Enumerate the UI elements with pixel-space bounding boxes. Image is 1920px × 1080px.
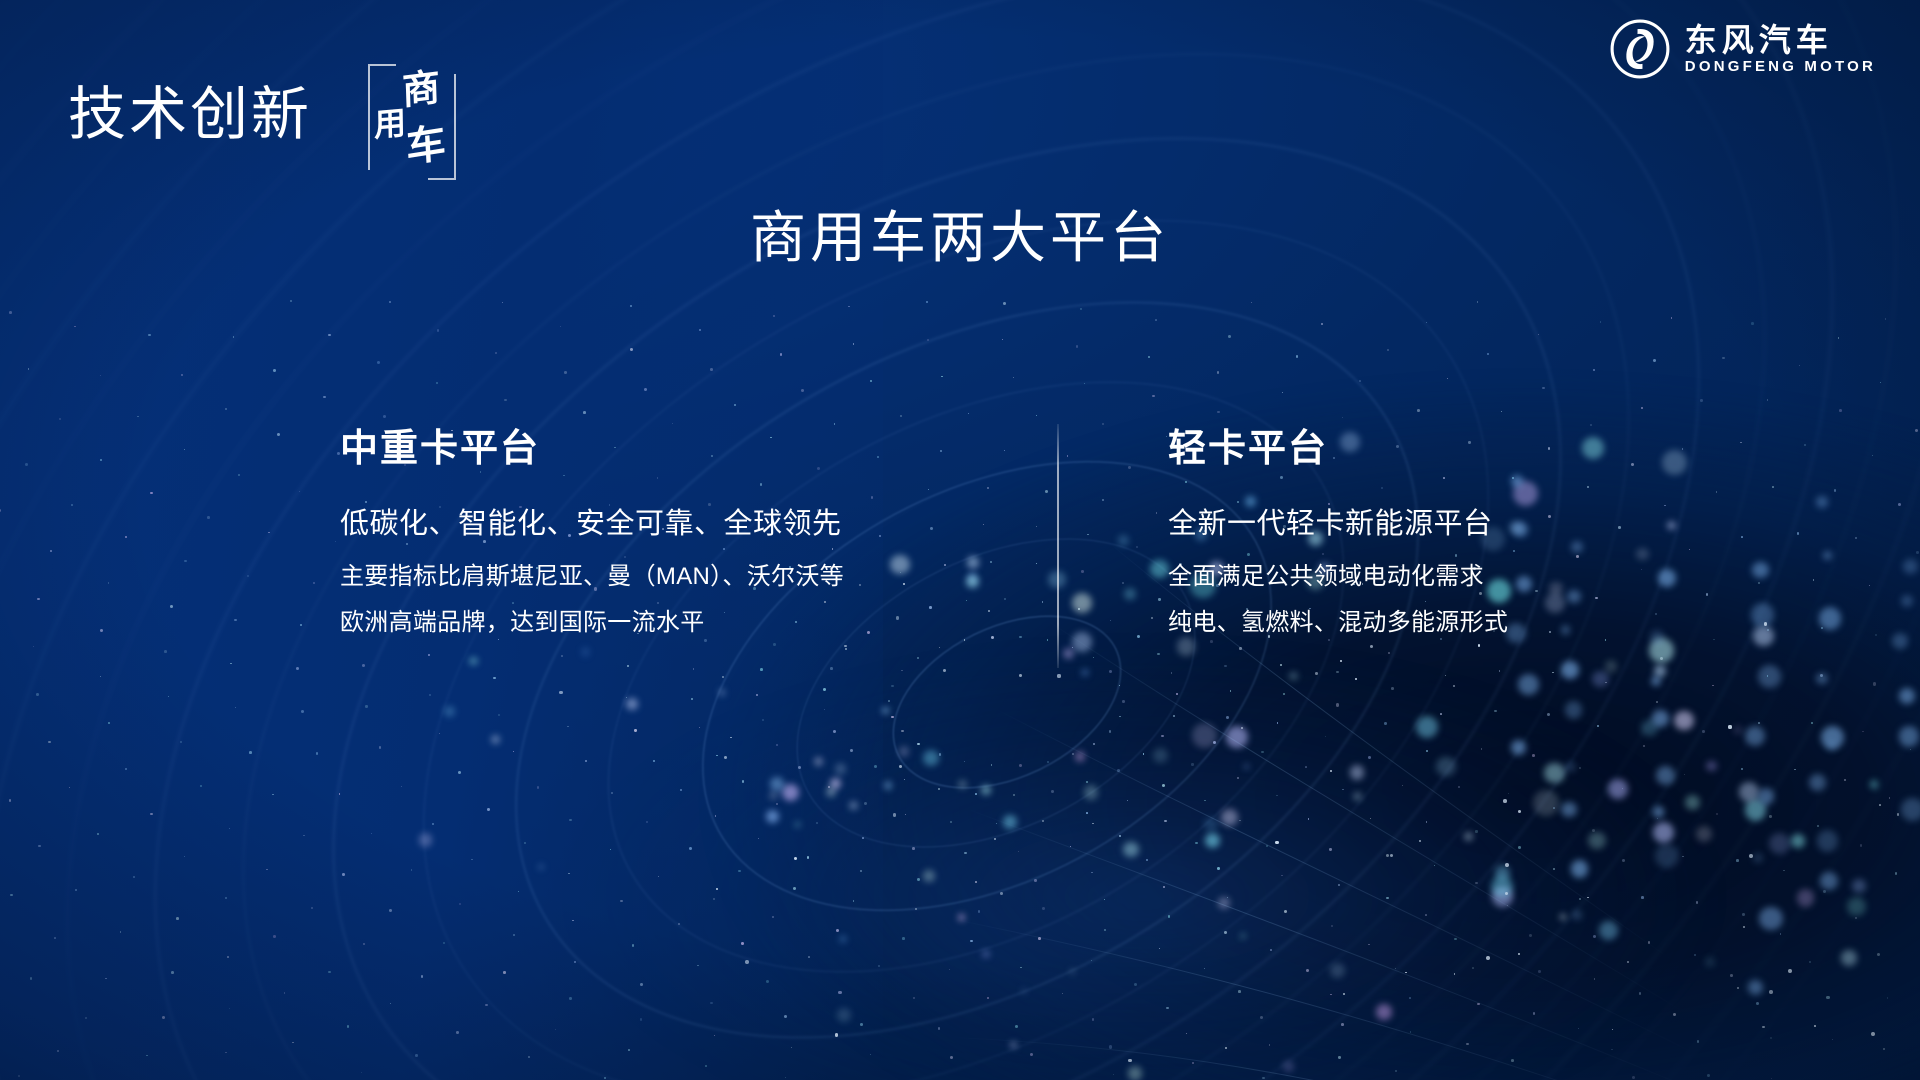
background-particle [640,1018,643,1021]
background-particle [628,1049,630,1051]
background-particle [59,418,61,420]
background-particle [713,898,715,900]
seal-char-3: 车 [405,123,447,169]
background-particle [838,991,841,994]
brand-logo: 东风汽车 DONGFENG MOTOR [1609,18,1876,80]
background-particle [18,1075,20,1077]
background-particle [225,897,227,899]
platform-detail-line: 主要指标比肩斯堪尼亚、曼（MAN）、沃尔沃等 [340,565,844,589]
background-particle [36,693,39,696]
background-particle [1600,321,1602,323]
background-particle [705,1065,706,1066]
platform-column-medium-heavy-truck: 中重卡平台 低碳化、智能化、安全可靠、全球领先 主要指标比肩斯堪尼亚、曼（MAN… [340,430,844,657]
background-bokeh-dot [884,781,893,790]
background-particle [437,329,439,331]
background-particle [807,856,810,859]
brand-name-en: DONGFENG MOTOR [1685,59,1876,74]
background-particle [836,929,839,932]
platform-lead-text: 全新一代轻卡新能源平台 [1168,510,1508,539]
background-particle [559,691,562,694]
background-particle [640,983,643,986]
background-bokeh-dot [444,706,455,717]
background-particle [328,334,331,337]
background-particle [171,971,174,974]
background-particle [1217,371,1219,373]
background-particle [941,376,942,377]
background-highlight-speck [745,960,749,964]
background-particle [1148,356,1150,358]
background-particle [273,935,276,938]
brand-logo-text: 东风汽车 DONGFENG MOTOR [1685,24,1876,74]
background-particle [150,813,152,815]
background-particle [125,768,127,770]
background-particle [1641,407,1642,408]
background-particle [390,1003,391,1004]
platform-heading: 中重卡平台 [340,430,844,468]
background-particle [630,305,632,307]
background-bokeh-dot [835,763,846,774]
background-particle [927,339,929,341]
background-particle [503,971,505,973]
background-bokeh-dot [769,791,778,800]
background-particle [28,368,29,369]
background-particle [891,716,893,718]
background-particle [913,997,915,999]
background-particle [120,931,122,933]
background-particle [1228,335,1231,338]
background-particle [710,368,713,371]
platform-column-light-truck: 轻卡平台 全新一代轻卡新能源平台 全面满足公共领域电动化需求 纯电、氢燃料、混动… [1168,430,1508,657]
background-particle [834,423,835,424]
platform-lead-text: 低碳化、智能化、安全可靠、全球领先 [340,510,844,539]
background-particle [1251,302,1252,303]
background-bokeh-dot [626,698,638,710]
commercial-vehicle-seal: 商 用 车 [368,64,456,180]
background-particle [504,399,507,402]
background-particle [415,1054,418,1057]
background-bokeh-dot [766,810,779,823]
background-particle [1799,365,1800,366]
background-particle [808,956,810,958]
background-particle [902,937,905,940]
background-particle [632,944,634,946]
background-particle [38,845,41,848]
background-particle [379,746,382,749]
background-particle [1426,322,1427,323]
background-particle [1036,415,1037,416]
brand-name-cn: 东风汽车 [1685,24,1876,56]
background-particle [862,837,864,839]
background-particle [1152,395,1155,398]
background-particle [915,908,917,910]
background-particle [564,371,567,374]
background-particle [585,760,587,762]
background-bokeh-dot [538,864,544,870]
seal-char-1: 商 [401,68,440,111]
background-particle [816,822,818,824]
background-bokeh-dot [491,735,500,744]
platform-detail-line: 纯电、氢燃料、混动多能源形式 [1168,611,1508,635]
background-particle [878,965,880,967]
background-particle [146,1055,147,1056]
background-particle [776,803,778,805]
background-particle [1013,377,1014,378]
platform-columns: 中重卡平台 低碳化、智能化、安全可靠、全球领先 主要指标比肩斯堪尼亚、曼（MAN… [0,430,1920,670]
background-highlight-speck [899,765,902,768]
background-particle [853,900,854,901]
background-particle [233,336,235,338]
background-particle [316,752,318,754]
background-particle [850,749,853,752]
background-particle [569,997,572,1000]
background-particle [968,413,969,414]
background-particle [30,977,32,979]
background-highlight-speck [716,888,718,890]
background-particle [180,741,182,743]
background-particle [365,705,367,707]
background-particle [833,730,836,733]
background-particle [229,1008,230,1009]
background-particle [901,730,903,732]
background-particle [741,942,744,945]
background-particle [328,971,331,974]
background-particle [912,847,915,850]
background-particle [823,688,826,691]
background-particle [377,361,380,364]
background-bokeh-dot [419,833,433,847]
background-particle [1593,369,1595,371]
background-bokeh-dot [899,746,910,757]
background-particle [860,870,862,872]
page-title: 技术创新 [68,86,312,144]
background-particle [1751,322,1754,325]
background-particle [487,808,490,811]
background-particle [54,937,56,939]
background-particle [227,956,229,958]
background-particle [1359,380,1361,382]
platform-detail-line: 全面满足公共领域电动化需求 [1168,565,1508,589]
background-particle [644,388,647,391]
background-particle [108,722,110,724]
background-particle [888,700,890,702]
background-particle [572,920,574,922]
background-particle [471,859,473,861]
background-particle [292,1042,294,1044]
background-particle [249,751,252,754]
background-bokeh-dot [794,821,801,828]
background-particle [200,785,201,786]
background-particle [620,900,623,903]
background-particle [848,306,849,307]
background-particle [630,348,633,351]
background-particle [758,838,759,839]
background-particle [1417,409,1420,412]
background-particle [513,934,515,936]
background-particle [742,780,744,782]
background-particle [634,729,636,731]
background-particle [917,743,919,745]
seal-char-2: 用 [374,107,406,142]
background-particle [1084,383,1085,384]
background-particle [524,842,526,844]
dongfeng-emblem-icon [1609,18,1671,80]
background-particle [710,1002,713,1005]
background-particle [574,961,576,963]
background-particle [583,411,586,414]
background-bokeh-dot [839,935,847,943]
background-bokeh-dot [814,757,823,766]
background-particle [1839,409,1842,412]
background-bokeh-dot [830,778,841,789]
background-highlight-speck [835,1033,838,1036]
main-heading: 商用车两大平台 [0,203,1920,273]
background-particle [1080,308,1081,309]
background-particle [1296,355,1298,357]
background-particle [181,374,182,375]
background-particle [1653,359,1656,362]
background-particle [342,873,345,876]
background-particle [273,369,276,372]
background-particle [1838,337,1839,338]
background-particle [303,835,305,837]
background-bokeh-dot [882,707,889,714]
background-particle [48,741,50,743]
background-particle [568,873,570,875]
background-particle [853,343,854,344]
presentation-slide: 技术创新 商 用 车 东风汽车 DONGFENG MOTOR 商用车两大平台 中… [0,0,1920,1080]
background-particle [874,765,877,768]
background-bokeh-dot [719,689,725,695]
background-particle [917,878,920,881]
background-particle [1700,399,1703,402]
background-particle [537,786,540,789]
background-particle [864,802,867,805]
background-particle [1387,349,1389,351]
background-particle [137,416,138,417]
platform-heading: 轻卡平台 [1168,430,1508,468]
background-particle [699,727,700,728]
background-highlight-speck [893,813,897,817]
background-particle [738,870,740,872]
background-particle [784,1015,787,1018]
platform-detail-line: 欧洲高端品牌，达到国际一流水平 [340,611,844,635]
